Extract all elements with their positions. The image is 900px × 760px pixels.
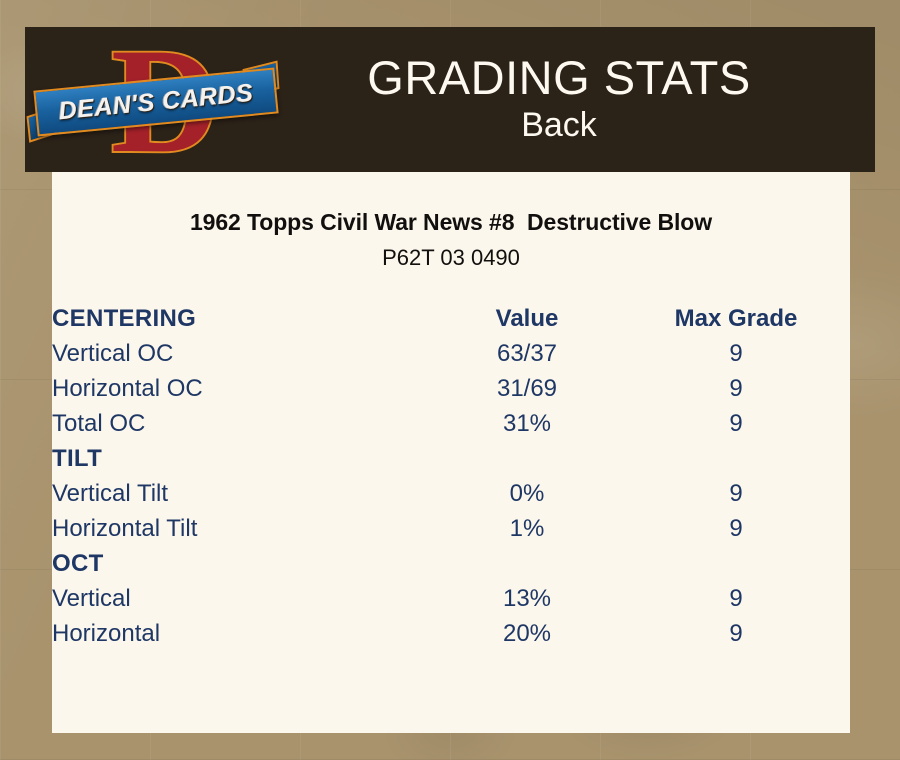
header-bar: D D DEAN'S CARDS GRADING STATS Back — [25, 27, 875, 172]
content-panel: 1962 Topps Civil War News #8 Destructive… — [52, 172, 850, 733]
table-row: Horizontal 20% 9 — [52, 616, 850, 651]
stat-value: 13% — [432, 581, 622, 616]
spacer-cell — [622, 441, 850, 476]
stat-max-grade: 9 — [622, 616, 850, 651]
stat-value: 63/37 — [432, 336, 622, 371]
grading-stats-table: CENTERING Value Max Grade Vertical OC 63… — [52, 301, 850, 651]
stat-value: 1% — [432, 511, 622, 546]
deans-cards-logo[interactable]: D D DEAN'S CARDS — [25, 27, 283, 172]
stat-label: Vertical — [52, 581, 432, 616]
section-header-tilt: TILT — [52, 441, 850, 476]
stat-max-grade: 9 — [622, 581, 850, 616]
stat-value: 31% — [432, 406, 622, 441]
page-title: GRADING STATS — [283, 53, 835, 102]
card-code: P62T 03 0490 — [52, 245, 850, 271]
spacer-cell — [432, 441, 622, 476]
page-subtitle: Back — [283, 104, 835, 147]
stat-value: 20% — [432, 616, 622, 651]
table-row: Horizontal Tilt 1% 9 — [52, 511, 850, 546]
section-label-centering: CENTERING — [52, 301, 432, 336]
grading-stats-page: D D DEAN'S CARDS GRADING STATS Back 1962… — [0, 0, 900, 760]
spacer-cell — [432, 546, 622, 581]
stat-max-grade: 9 — [622, 476, 850, 511]
table-row: Vertical Tilt 0% 9 — [52, 476, 850, 511]
section-header-centering: CENTERING Value Max Grade — [52, 301, 850, 336]
section-label-tilt: TILT — [52, 441, 432, 476]
header-title-group: GRADING STATS Back — [283, 53, 875, 147]
stat-value: 0% — [432, 476, 622, 511]
table-row: Horizontal OC 31/69 9 — [52, 371, 850, 406]
column-header-max-grade: Max Grade — [622, 301, 850, 336]
card-title: 1962 Topps Civil War News #8 Destructive… — [52, 209, 850, 236]
spacer-cell — [622, 546, 850, 581]
column-header-value: Value — [432, 301, 622, 336]
stat-value: 31/69 — [432, 371, 622, 406]
stat-label: Vertical Tilt — [52, 476, 432, 511]
table-row: Total OC 31% 9 — [52, 406, 850, 441]
stat-max-grade: 9 — [622, 406, 850, 441]
stat-label: Horizontal — [52, 616, 432, 651]
stats-table-body: CENTERING Value Max Grade Vertical OC 63… — [52, 301, 850, 651]
card-identity-block: 1962 Topps Civil War News #8 Destructive… — [52, 172, 850, 271]
stat-max-grade: 9 — [622, 511, 850, 546]
section-label-oct: OCT — [52, 546, 432, 581]
stat-label: Total OC — [52, 406, 432, 441]
stat-label: Horizontal OC — [52, 371, 432, 406]
table-row: Vertical 13% 9 — [52, 581, 850, 616]
stat-label: Vertical OC — [52, 336, 432, 371]
stat-label: Horizontal Tilt — [52, 511, 432, 546]
section-header-oct: OCT — [52, 546, 850, 581]
stat-max-grade: 9 — [622, 371, 850, 406]
stat-max-grade: 9 — [622, 336, 850, 371]
table-row: Vertical OC 63/37 9 — [52, 336, 850, 371]
